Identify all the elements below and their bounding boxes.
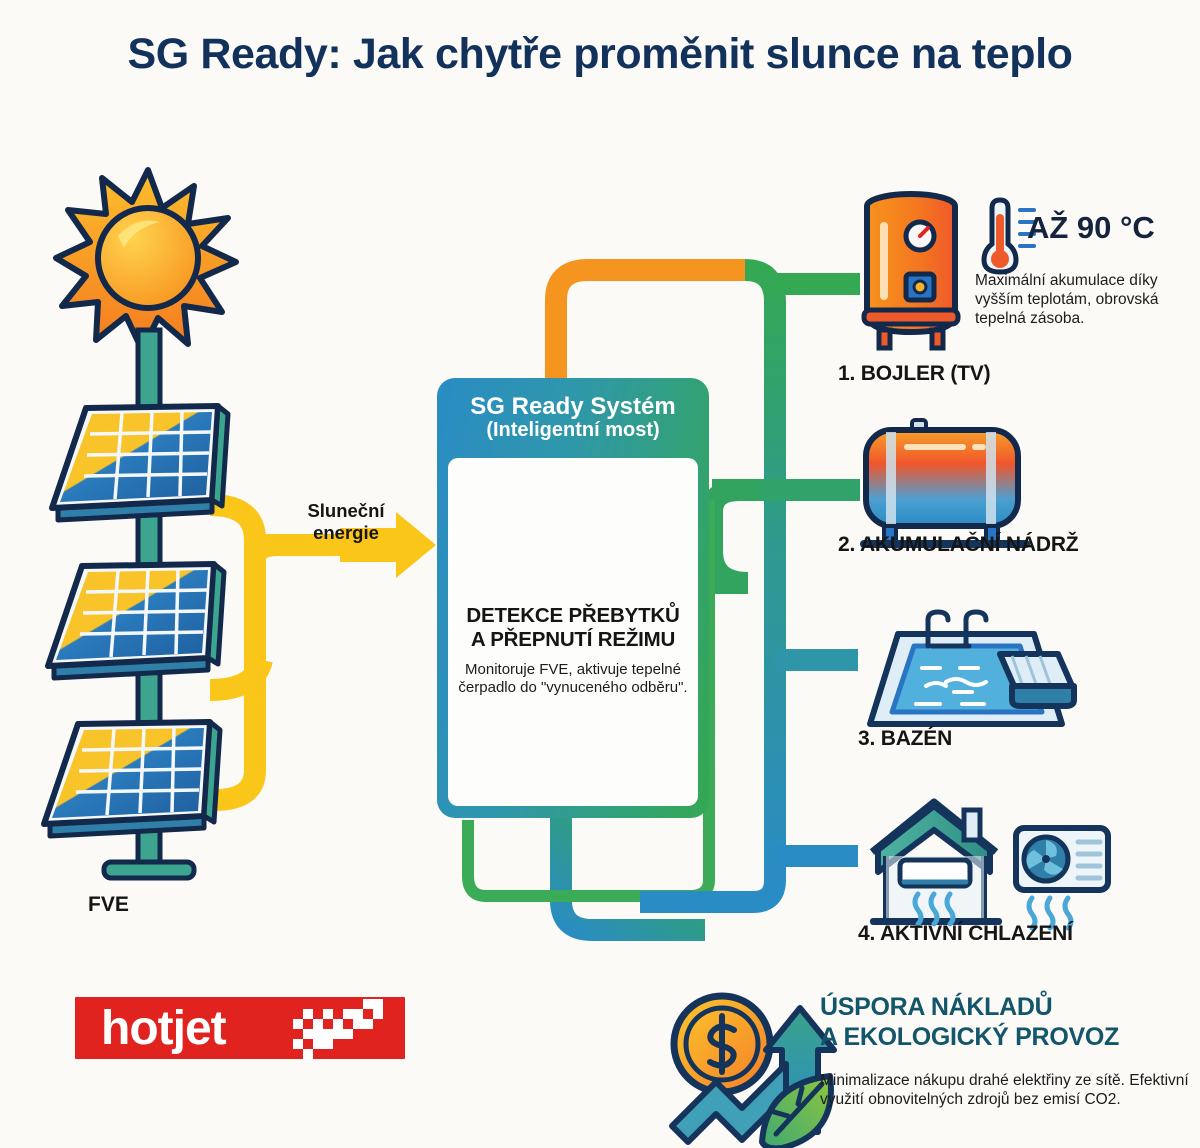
sg-ready-headline-line1: DETEKCE PŘEBYTKŮ <box>466 604 679 627</box>
sg-ready-headline: DETEKCE PŘEBYTKŮ A PŘEPNUTÍ REŽIMU <box>466 604 679 652</box>
solar-energy-label: Sluneční energie <box>286 500 406 544</box>
temperature-badge: AŽ 90 °C <box>1027 210 1155 246</box>
savings-title-line2: A EKOLOGICKÝ PROVOZ <box>820 1023 1119 1051</box>
sg-ready-headline-line2: A PŘEPNUTÍ REŽIMU <box>471 628 675 651</box>
swimming-pool-icon <box>870 612 1074 724</box>
solar-energy-label-line2: energie <box>313 522 379 543</box>
sg-ready-card-header: SG Ready Systém (Inteligentní most) <box>437 378 709 458</box>
infographic-canvas: SG Ready: Jak chytře proměnit slunce na … <box>0 0 1200 1148</box>
sg-ready-subtitle: (Inteligentní most) <box>486 419 659 442</box>
savings-description: Minimalizace nákupu drahé elektřiny ze s… <box>820 1072 1200 1110</box>
pipe-return-left <box>561 818 705 930</box>
pipe-trunk-main <box>745 270 775 880</box>
pipe-orange-supply <box>556 270 745 390</box>
pipe-return-left-outer <box>592 820 612 898</box>
fve-label: FVE <box>88 893 208 917</box>
output-label-buffer-tank: 2. AKUMULAČNÍ NÁDRŽ <box>838 533 1078 557</box>
sg-ready-title: SG Ready Systém <box>470 394 675 419</box>
hotjet-wordmark: hotjet <box>101 1001 226 1056</box>
output-label-cooling: 4. AKTIVNÍ CHLAZENÍ <box>858 922 1073 946</box>
savings-title-line1: ÚSPORA NÁKLADŮ <box>820 993 1052 1021</box>
boiler-description: Maximální akumulace díky vyšším teplotám… <box>975 272 1200 329</box>
sg-ready-description: Monitoruje FVE, aktivuje tepelné čerpadl… <box>448 661 698 698</box>
sun-icon <box>56 170 236 350</box>
sg-ready-card-body: DETEKCE PŘEBYTKŮ A PŘEPNUTÍ REŽIMU Monit… <box>448 458 698 806</box>
solar-panel-icon <box>44 330 228 878</box>
savings-title: ÚSPORA NÁKLADŮ A EKOLOGICKÝ PROVOZ <box>820 992 1200 1052</box>
sg-ready-card: SG Ready Systém (Inteligentní most) DETE… <box>437 378 709 818</box>
water-heater-icon <box>864 194 958 348</box>
solar-energy-label-line1: Sluneční <box>307 500 384 521</box>
coin-growth-leaf-icon <box>672 996 834 1148</box>
buffer-tank-icon <box>860 420 1030 548</box>
air-conditioning-icon <box>870 802 1108 928</box>
output-label-boiler: 1. BOJLER (TV) <box>838 362 990 386</box>
output-label-pool: 3. BAZÉN <box>858 727 952 751</box>
hotjet-logo: hotjet <box>75 997 405 1059</box>
